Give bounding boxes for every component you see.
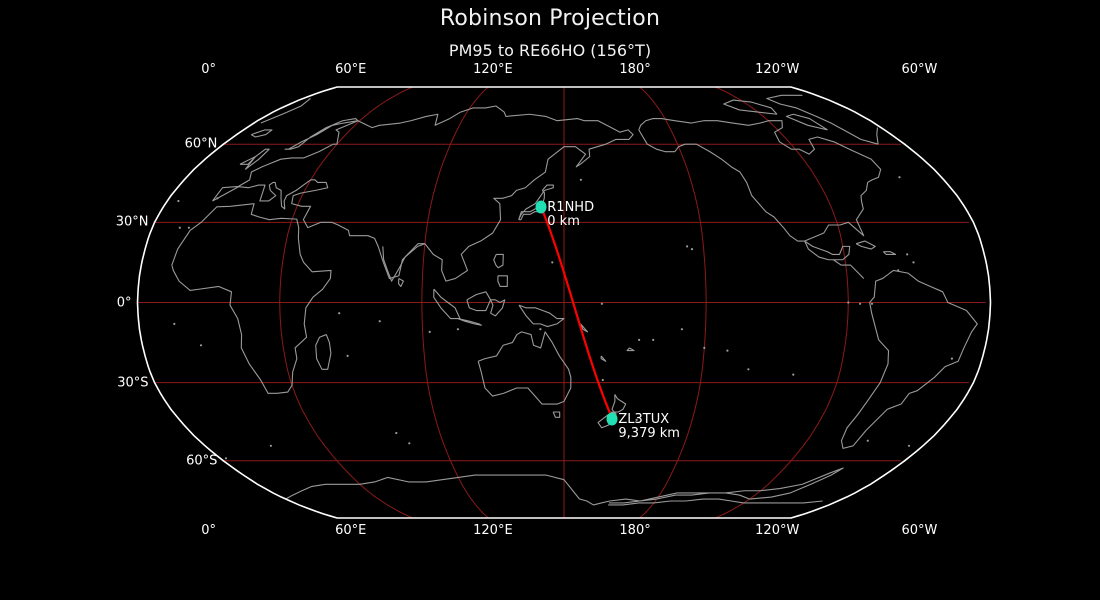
island-dot <box>912 261 914 263</box>
island-dot <box>897 269 899 271</box>
coastline-segment <box>612 394 626 412</box>
coastline-segment <box>251 130 272 137</box>
station-callsign-label: ZL3TUX <box>618 412 669 427</box>
island-dot <box>898 176 900 178</box>
island-dot <box>681 328 683 330</box>
island-dot <box>601 303 603 305</box>
island-dot <box>747 368 749 370</box>
lat-label-4: 60°S <box>186 453 217 468</box>
coastline-segment <box>856 241 875 249</box>
lon-label-top-2: 120°E <box>473 62 513 77</box>
path-segment <box>541 207 612 418</box>
coastline-segment <box>399 278 404 286</box>
coastline-segment <box>608 499 822 505</box>
station-marker-icon[interactable] <box>536 201 547 214</box>
lon-label-top-4: 120°W <box>755 62 799 77</box>
coastline-segment <box>883 252 895 255</box>
coastline-segment <box>724 100 777 114</box>
great-circle-path <box>541 207 612 418</box>
island-dot <box>638 339 640 341</box>
station-callsign-label: R1NHD <box>547 200 594 215</box>
coastline-segment <box>494 254 504 267</box>
island-dot <box>691 248 693 250</box>
lon-label-top-5: 60°W <box>901 62 937 77</box>
island-dot <box>703 347 705 349</box>
graticule-group <box>138 87 986 518</box>
coastline-segment <box>286 475 610 505</box>
island-dot <box>847 301 849 303</box>
island-dot <box>270 445 272 447</box>
lon-label-top-1: 60°E <box>335 62 366 77</box>
coastline-segment <box>767 95 878 144</box>
island-dot <box>173 323 175 325</box>
coastline-segment <box>841 270 977 448</box>
island-dot <box>379 320 381 322</box>
coastline-segment <box>261 98 311 123</box>
coastline-segment <box>786 114 827 130</box>
coastline-segment <box>467 292 491 311</box>
map-figure: Robinson Projection PM95 to RE66HO (156°… <box>0 0 1100 600</box>
coastline-segment <box>383 244 425 281</box>
coastline-segment <box>519 212 540 220</box>
lat-label-0: 60°N <box>185 137 218 152</box>
lat-label-1: 30°N <box>116 215 149 230</box>
coastline-segment <box>553 412 560 417</box>
station-marker-icon[interactable] <box>607 412 618 425</box>
island-dot <box>177 200 179 202</box>
island-dot <box>429 331 431 333</box>
island-dot <box>395 432 397 434</box>
lon-label-bottom-2: 120°E <box>473 523 513 538</box>
coastline-segment <box>434 289 460 318</box>
island-dot <box>908 445 910 447</box>
coastline-segment <box>519 305 564 326</box>
island-dot <box>867 440 869 442</box>
island-dot <box>580 179 582 181</box>
coastline-segment <box>498 276 508 287</box>
station-distance-label: 0 km <box>547 214 580 229</box>
island-dot <box>347 355 349 357</box>
lon-label-bottom-1: 60°E <box>335 523 366 538</box>
island-dot <box>200 344 202 346</box>
island-dot <box>951 358 953 360</box>
coastline-segment <box>877 128 878 145</box>
island-dot <box>652 339 654 341</box>
lat-label-3: 30°S <box>117 375 148 390</box>
world-map <box>0 0 1100 600</box>
island-dot <box>551 261 553 263</box>
island-dot <box>225 457 227 459</box>
coastline-segment <box>213 106 634 281</box>
coastline-segment <box>172 204 331 394</box>
lon-label-bottom-5: 60°W <box>901 523 937 538</box>
island-dot <box>188 227 190 229</box>
island-dot <box>906 253 908 255</box>
coastline-segment <box>478 332 571 404</box>
island-dot <box>792 374 794 376</box>
coastline-segment <box>627 348 634 351</box>
island-dot <box>686 245 688 247</box>
lon-label-top-0: 0° <box>201 62 216 77</box>
island-dot <box>871 303 873 305</box>
station-distance-label: 9,379 km <box>618 426 680 441</box>
island-dot <box>408 442 410 444</box>
coastline-segment <box>601 356 606 361</box>
island-dot <box>338 312 340 314</box>
lon-label-bottom-4: 120°W <box>755 523 799 538</box>
coastline-segment <box>458 319 482 326</box>
island-dot <box>859 303 861 305</box>
island-dot <box>602 379 604 381</box>
island-dot <box>457 328 459 330</box>
coastline-segment <box>833 260 863 279</box>
lon-label-bottom-0: 0° <box>201 523 216 538</box>
lon-label-top-3: 180° <box>619 62 650 77</box>
island-dot <box>179 227 181 229</box>
coastline-segment <box>609 468 843 503</box>
lat-label-2: 0° <box>117 295 132 310</box>
island-dot <box>539 328 541 330</box>
island-dot <box>726 350 728 352</box>
coastline-group <box>172 95 977 505</box>
island-dot <box>216 197 218 199</box>
lon-label-bottom-3: 180° <box>619 523 650 538</box>
coastline-segment <box>316 335 331 370</box>
